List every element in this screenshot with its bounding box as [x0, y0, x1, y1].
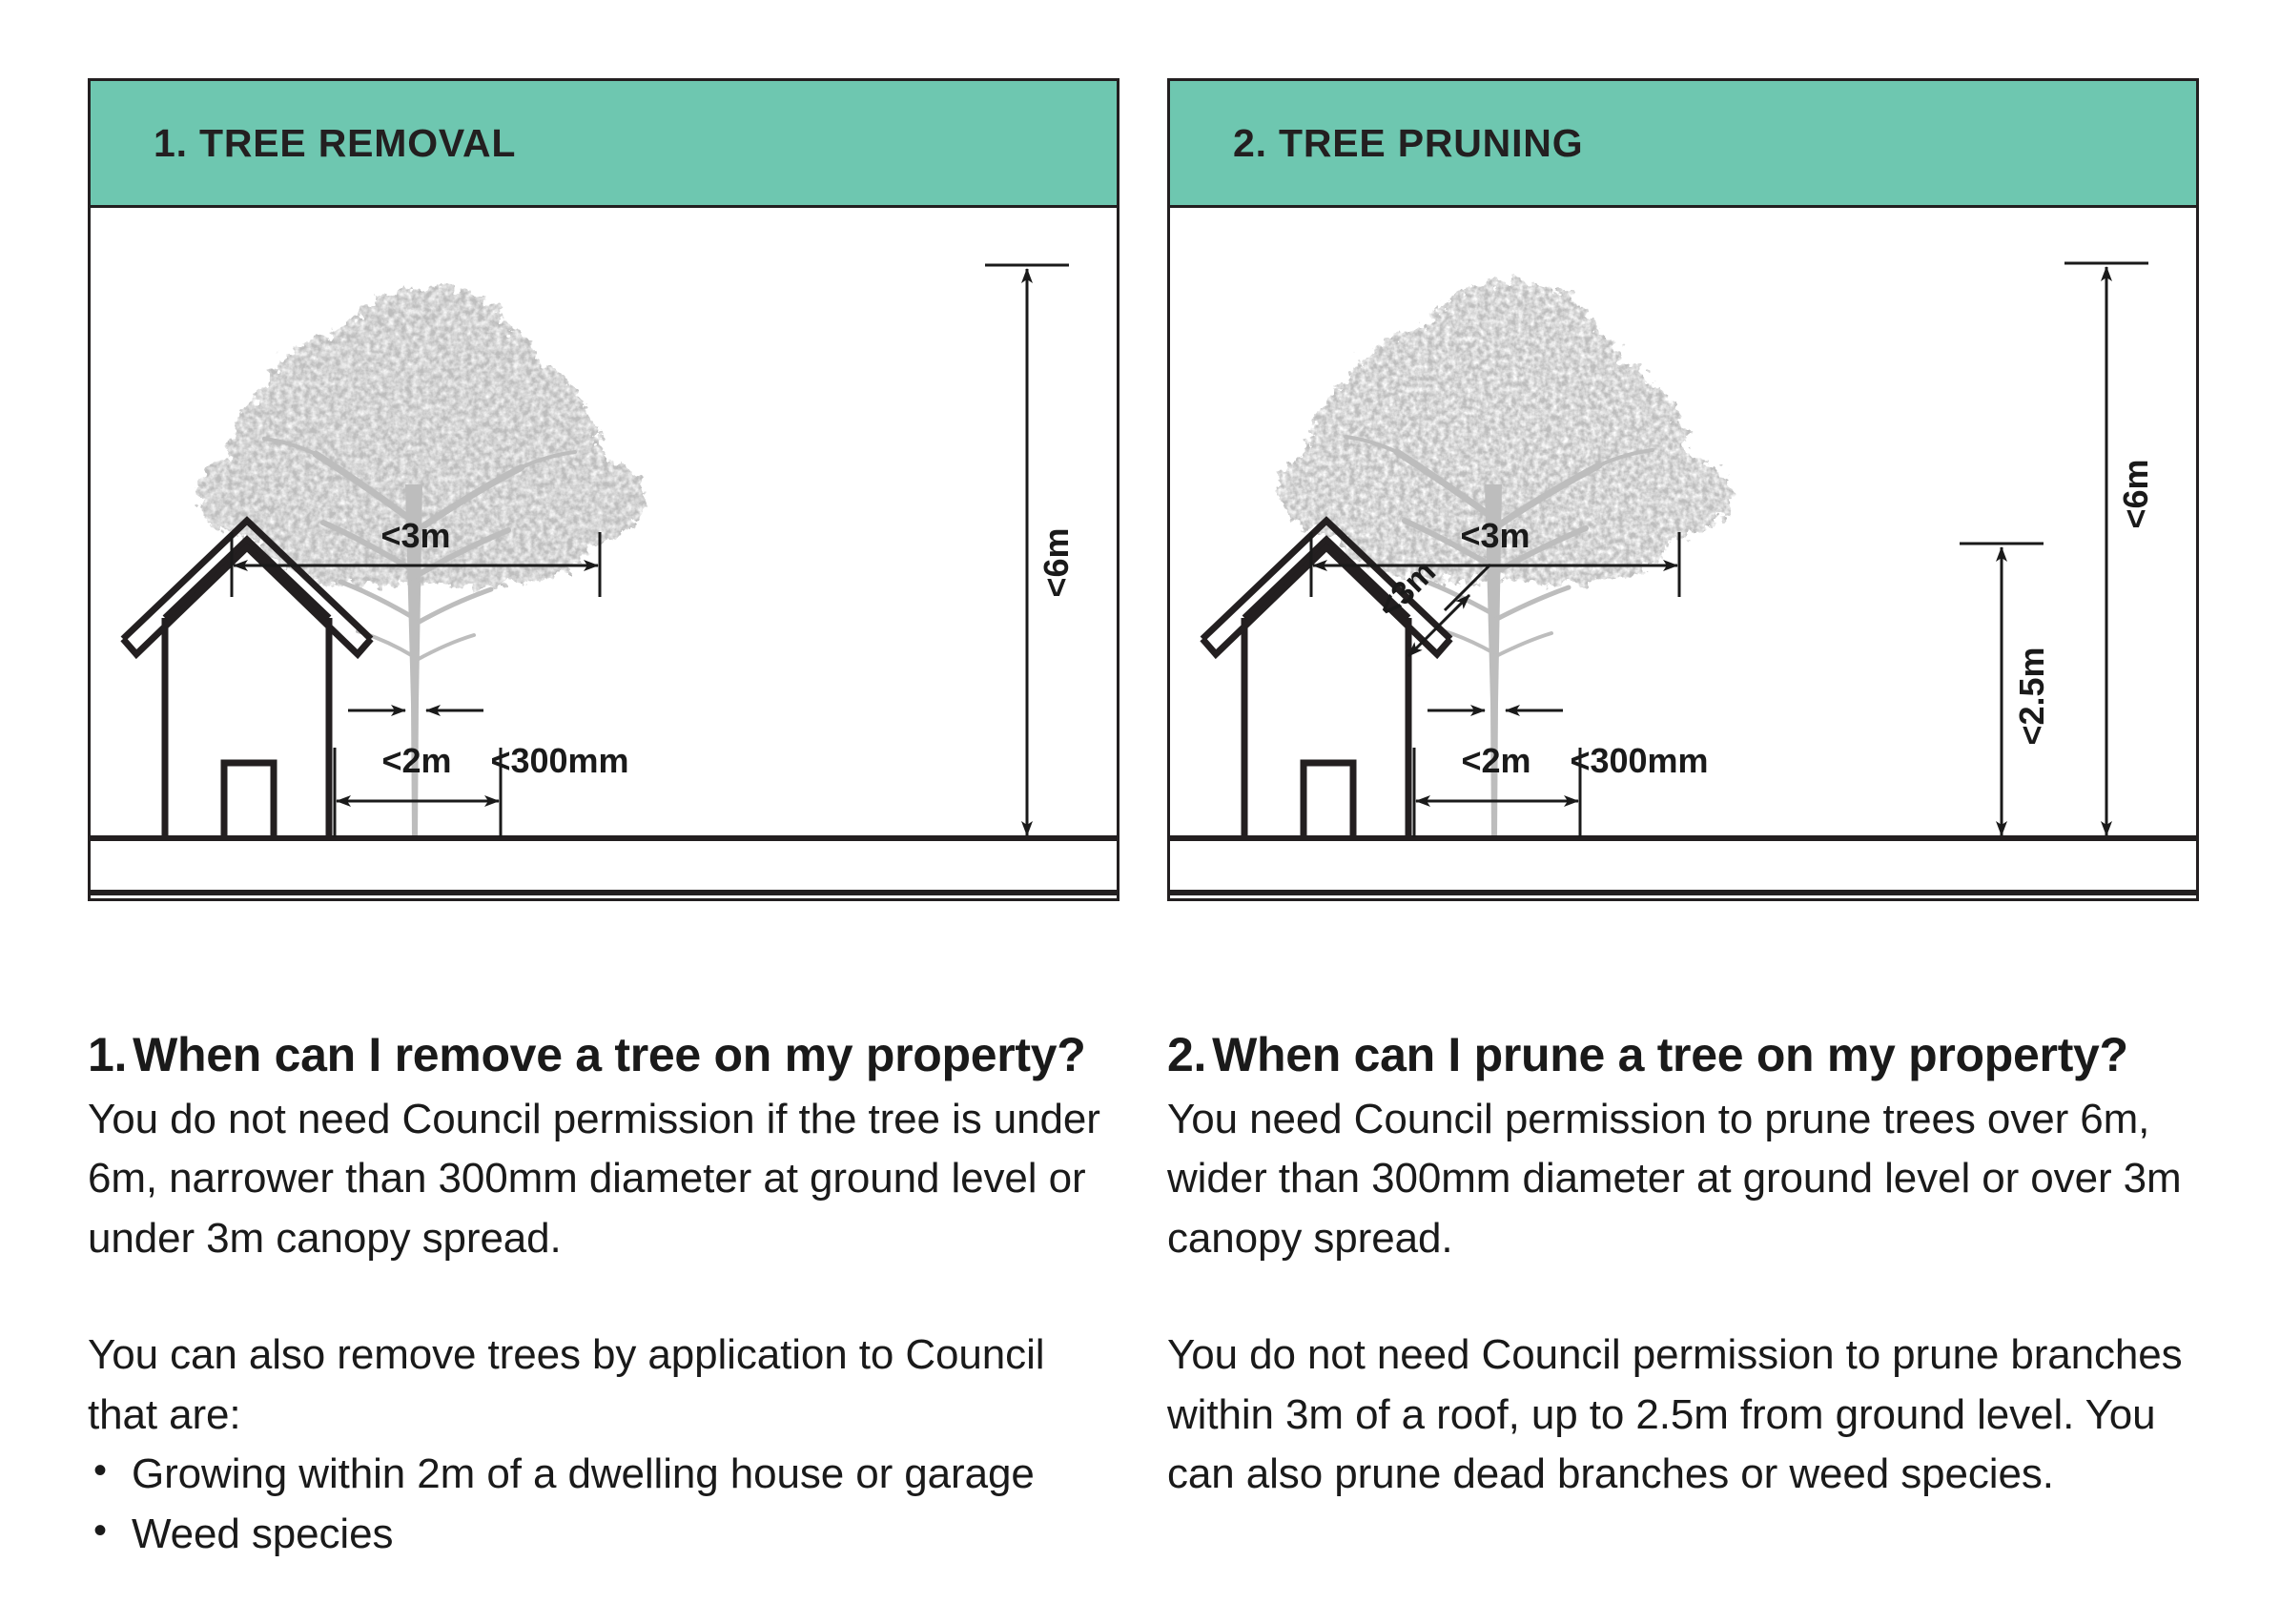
- label-house-to-trunk-2: <2m: [1461, 741, 1530, 780]
- text-section-removal: 1.When can I remove a tree on my propert…: [88, 1027, 1103, 1564]
- tree-rules-infographic: 1. TREE REMOVAL: [0, 0, 2280, 1624]
- section-number-2: 2.: [1167, 1028, 1206, 1081]
- dimension-tree-height: [2064, 263, 2148, 835]
- label-tree-height-1: <6m: [1037, 527, 1076, 597]
- diagram-panel-tree-removal: 1. TREE REMOVAL: [88, 78, 1119, 901]
- section-heading-2: 2.When can I prune a tree on my property…: [1167, 1027, 2183, 1082]
- label-prune-height: <2.5m: [2012, 647, 2051, 745]
- column-tree-pruning: 2. TREE PRUNING: [1167, 78, 2199, 1564]
- section-paragraph-1a: You do not need Council permission if th…: [88, 1090, 1103, 1268]
- column-tree-removal: 1. TREE REMOVAL: [88, 78, 1119, 1564]
- label-house-to-trunk-1: <2m: [381, 741, 451, 780]
- panel-header-tree-removal: 1. TREE REMOVAL: [91, 81, 1117, 208]
- section-paragraph-1b: You can also remove trees by application…: [88, 1326, 1103, 1445]
- text-section-pruning: 2.When can I prune a tree on my property…: [1167, 1027, 2183, 1505]
- section-bullets-1: Growing within 2m of a dwelling house or…: [88, 1445, 1103, 1564]
- two-column-layout: 1. TREE REMOVAL: [88, 78, 2200, 1564]
- section-paragraph-2b: You do not need Council permission to pr…: [1167, 1326, 2183, 1504]
- diagram-panel-tree-pruning: 2. TREE PRUNING: [1167, 78, 2199, 901]
- section-paragraph-2a: You need Council permission to prune tre…: [1167, 1090, 2183, 1268]
- label-tree-height-2: <6m: [2116, 459, 2155, 528]
- label-canopy-spread-2: <3m: [1460, 516, 1530, 555]
- section-heading-text-1: When can I remove a tree on my property?: [133, 1028, 1085, 1081]
- panel-title-tree-removal: 1. TREE REMOVAL: [154, 121, 516, 166]
- list-item: Weed species: [88, 1505, 1103, 1564]
- section-number-1: 1.: [88, 1028, 127, 1081]
- section-heading-text-2: When can I prune a tree on my property?: [1212, 1028, 2128, 1081]
- diagram-tree-pruning: <3m <3m <6m: [1170, 208, 2196, 898]
- panel-title-tree-pruning: 2. TREE PRUNING: [1233, 121, 1583, 166]
- label-trunk-diameter-1: <300mm: [490, 741, 628, 780]
- label-canopy-spread-1: <3m: [380, 516, 450, 555]
- section-heading-1: 1.When can I remove a tree on my propert…: [88, 1027, 1103, 1082]
- list-item: Growing within 2m of a dwelling house or…: [88, 1445, 1103, 1504]
- panel-header-tree-pruning: 2. TREE PRUNING: [1170, 81, 2196, 208]
- diagram-tree-removal: <3m <6m <2m: [91, 208, 1117, 898]
- label-trunk-diameter-2: <300mm: [1570, 741, 1708, 780]
